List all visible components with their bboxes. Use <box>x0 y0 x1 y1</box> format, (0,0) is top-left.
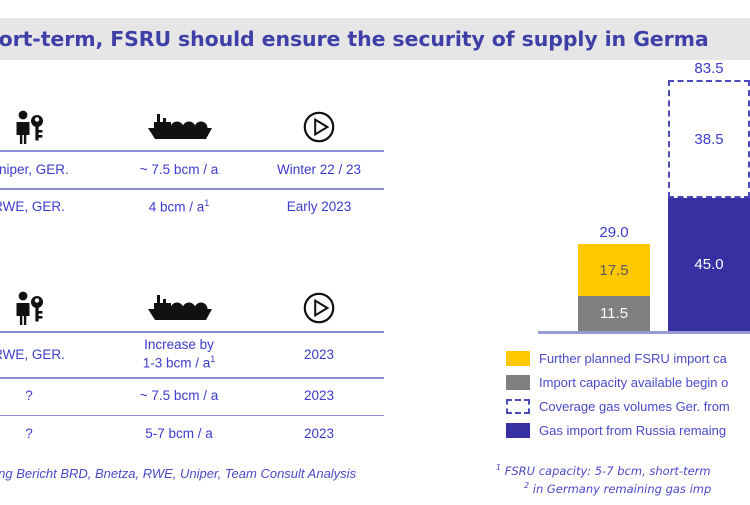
lng-ship-icon <box>104 292 254 324</box>
table-header-row <box>0 285 384 331</box>
bar-group-import-capacity: 29.0 17.5 11.5 <box>578 224 650 331</box>
table-row: RWE, GER. Increase by1-3 bcm / a1 2023 <box>0 333 384 377</box>
table-row: ? ~ 7.5 bcm / a 2023 <box>0 379 384 415</box>
footnote-marker: 1 <box>496 463 501 472</box>
bar-segment-available-capacity: 11.5 <box>578 296 650 331</box>
fsru-table-upper: Uniper, GER. ~ 7.5 bcm / a Winter 22 / 2… <box>0 104 384 226</box>
legend-label: Import capacity available begin o <box>539 375 728 390</box>
legend-item-russia-remaining: Gas import from Russia remaing <box>506 418 750 442</box>
page-title: short-term, FSRU should ensure the secur… <box>0 27 709 51</box>
bar-segment-russia-remaining: 45.0 <box>668 198 750 331</box>
source-line: nitoring Bericht BRD, Bnetza, RWE, Unipe… <box>0 466 490 481</box>
cell-volume: ~ 7.5 bcm / a <box>104 162 254 179</box>
legend-swatch-dashed <box>506 399 530 414</box>
bar-segment-coverage-volumes: 38.5 <box>668 80 750 198</box>
table-row: RWE, GER. 4 bcm / a1 Early 2023 <box>0 190 384 226</box>
footnotes: 1 FSRU capacity: 5-7 bcm, short-term 2 i… <box>496 462 750 498</box>
legend-label: Coverage gas volumes Ger. from <box>539 399 730 414</box>
play-circle-icon <box>254 110 384 144</box>
footnote-marker: 1 <box>204 198 209 208</box>
footnote-text: in Germany remaining gas imp <box>533 482 712 496</box>
person-key-icon <box>0 290 104 326</box>
footnote-2: 2 in Germany remaining gas imp <box>496 480 750 498</box>
footnote-text: FSRU capacity: 5-7 bcm, short-term <box>505 464 711 478</box>
bar-group-russia-import: 83.5 38.5 45.0 <box>668 60 750 331</box>
cell-volume: ~ 7.5 bcm / a <box>104 388 254 405</box>
bar-total-label: 83.5 <box>668 60 750 77</box>
person-key-icon <box>0 109 104 145</box>
table-header-row <box>0 104 384 150</box>
cell-party: RWE, GER. <box>0 199 104 216</box>
cell-party: RWE, GER. <box>0 347 104 364</box>
chart-legend: Further planned FSRU import ca Import ca… <box>506 346 750 442</box>
cell-party: ? <box>0 426 104 443</box>
footnote-marker: 1 <box>210 354 215 364</box>
cell-volume: 5-7 bcm / a <box>104 426 254 443</box>
bar-total-label: 29.0 <box>578 224 650 241</box>
legend-item-available-capacity: Import capacity available begin o <box>506 370 750 394</box>
cell-timing: Winter 22 / 23 <box>254 162 384 179</box>
legend-swatch-blue <box>506 423 530 438</box>
play-circle-icon <box>254 291 384 325</box>
cell-volume-text: 4 bcm / a <box>149 200 205 215</box>
cell-party: Uniper, GER. <box>0 162 104 179</box>
legend-swatch-yellow <box>506 351 530 366</box>
bar-segment-planned-fsru: 17.5 <box>578 244 650 296</box>
legend-item-planned-fsru: Further planned FSRU import ca <box>506 346 750 370</box>
cell-party: ? <box>0 388 104 405</box>
table-row: Uniper, GER. ~ 7.5 bcm / a Winter 22 / 2… <box>0 152 384 188</box>
gas-supply-bar-chart: 29.0 17.5 11.5 83.5 38.5 45.0 <box>520 62 750 334</box>
legend-label: Gas import from Russia remaing <box>539 423 726 438</box>
table-row: ? 5-7 bcm / a 2023 <box>0 416 384 452</box>
cell-timing: 2023 <box>254 426 384 443</box>
chart-baseline-axis <box>538 331 750 334</box>
cell-timing: Early 2023 <box>254 199 384 216</box>
cell-timing: 2023 <box>254 347 384 364</box>
legend-item-coverage-volumes: Coverage gas volumes Ger. from <box>506 394 750 418</box>
footnote-1: 1 FSRU capacity: 5-7 bcm, short-term <box>496 462 750 480</box>
cell-volume: 4 bcm / a1 <box>104 198 254 216</box>
title-band: short-term, FSRU should ensure the secur… <box>0 18 750 60</box>
cell-volume-text: Increase by1-3 bcm / a <box>143 337 214 370</box>
cell-timing: 2023 <box>254 388 384 405</box>
cell-volume: Increase by1-3 bcm / a1 <box>104 337 254 372</box>
legend-label: Further planned FSRU import ca <box>539 351 727 366</box>
legend-swatch-gray <box>506 375 530 390</box>
lng-ship-icon <box>104 111 254 143</box>
fsru-table-lower: RWE, GER. Increase by1-3 bcm / a1 2023 ?… <box>0 285 384 452</box>
footnote-marker: 2 <box>524 481 529 490</box>
